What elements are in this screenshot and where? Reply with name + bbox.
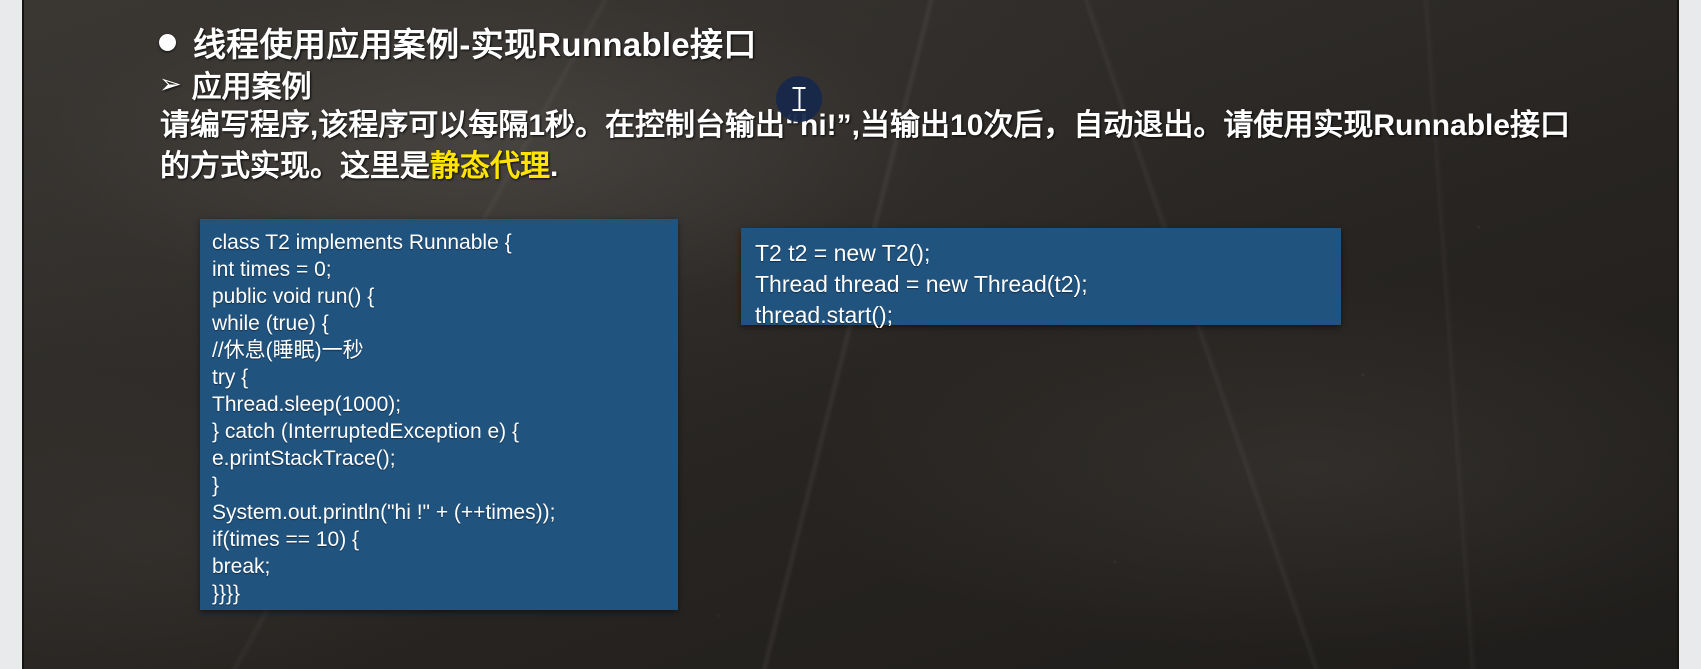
code-line: } <box>212 472 678 499</box>
body-line-2-suffix: . <box>550 150 558 183</box>
slide-viewer-frame: 线程使用应用案例-实现Runnable接口 ➢ 应用案例 请编写程序,该程序可以… <box>0 0 1701 669</box>
code-line: try { <box>212 364 678 391</box>
slide-body-paragraph: 请编写程序,该程序可以每隔1秒。在控制台输出“hi!”,当输出10次后，自动退出… <box>160 105 1580 187</box>
body-line-1: 请编写程序,该程序可以每隔1秒。在控制台输出“hi!”,当输出10次后，自动退出… <box>160 109 1253 142</box>
code-line: Thread.sleep(1000); <box>212 391 678 418</box>
slide-title: 线程使用应用案例-实现Runnable接口 <box>159 18 757 66</box>
code-line: e.printStackTrace(); <box>212 445 678 472</box>
filled-circle-bullet-icon <box>159 34 176 51</box>
slide-subtitle: ➢ 应用案例 <box>159 62 312 106</box>
code-line: //休息(睡眠)一秒 <box>212 337 678 364</box>
code-block-runnable-class: class T2 implements Runnable { int times… <box>200 219 678 610</box>
code-line: Thread thread = new Thread(t2); <box>755 269 1341 300</box>
code-line: class T2 implements Runnable { <box>212 229 678 256</box>
code-block-thread-start: T2 t2 = new T2(); Thread thread = new Th… <box>741 228 1341 325</box>
slide-canvas: 线程使用应用案例-实现Runnable接口 ➢ 应用案例 请编写程序,该程序可以… <box>22 0 1679 669</box>
slide-subtitle-text: 应用案例 <box>192 62 312 106</box>
code-line: } catch (InterruptedException e) { <box>212 418 678 445</box>
code-line: public void run() { <box>212 283 678 310</box>
code-line: System.out.println("hi !" + (++times)); <box>212 499 678 526</box>
code-line: }}}} <box>212 580 678 607</box>
code-line: thread.start(); <box>755 300 1341 331</box>
code-line: T2 t2 = new T2(); <box>755 238 1341 269</box>
arrow-bullet-icon: ➢ <box>159 71 182 98</box>
code-line: break; <box>212 553 678 580</box>
slide-title-text: 线程使用应用案例-实现Runnable接口 <box>193 18 757 66</box>
code-line: int times = 0; <box>212 256 678 283</box>
body-highlight-term: 静态代理 <box>430 150 550 183</box>
code-line: if(times == 10) { <box>212 526 678 553</box>
code-line: while (true) { <box>212 310 678 337</box>
